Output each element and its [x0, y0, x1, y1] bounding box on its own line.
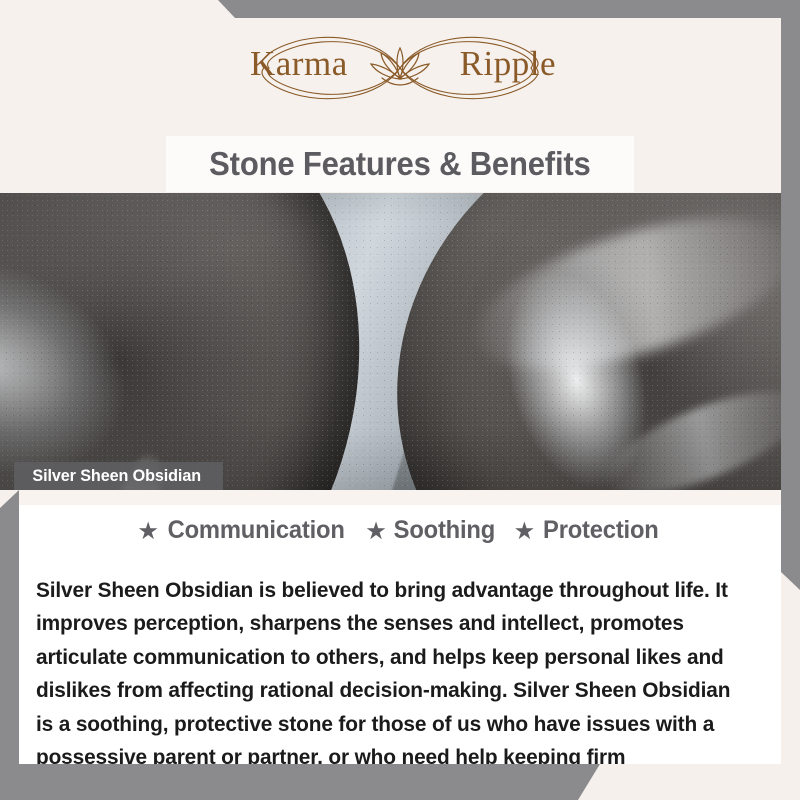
- page-title-band: Stone Features & Benefits: [166, 136, 634, 192]
- keyword-item-protection: ★ Protection: [515, 516, 661, 545]
- frame-band-right: [781, 18, 800, 590]
- content-panel: ★ Communication ★ Soothing ★ Protection …: [19, 490, 781, 764]
- frame-band-left: [0, 490, 19, 782]
- keyword-item-communication: ★ Communication: [139, 516, 350, 545]
- page-title: Stone Features & Benefits: [209, 145, 590, 183]
- keyword-label: Protection: [543, 516, 659, 545]
- stone-photo: Silver Sheen Obsidian: [0, 193, 800, 490]
- brand-name-right: Ripple: [460, 46, 556, 81]
- keyword-label: Communication: [168, 516, 345, 545]
- stone-name-caption: Silver Sheen Obsidian: [14, 462, 223, 490]
- star-icon: ★: [367, 521, 386, 542]
- header-band: Karma Ripple Stone Features & Benefits: [0, 0, 800, 193]
- content-top-tint: [19, 490, 781, 505]
- star-icon: ★: [515, 521, 534, 542]
- frame-band-bottom: [0, 764, 600, 800]
- keyword-list: ★ Communication ★ Soothing ★ Protection: [19, 516, 781, 545]
- stone-name-label: Silver Sheen Obsidian: [32, 466, 201, 486]
- keyword-label: Soothing: [394, 516, 495, 545]
- brand-logo: Karma Ripple: [0, 22, 800, 114]
- lotus-icon: [371, 48, 429, 85]
- brand-logo-artwork: Karma Ripple: [230, 22, 570, 114]
- infographic-canvas: Karma Ripple Stone Features & Benefits S…: [0, 0, 800, 800]
- star-icon: ★: [139, 521, 158, 542]
- keyword-item-soothing: ★ Soothing: [367, 516, 498, 545]
- brand-name-left: Karma: [250, 46, 348, 81]
- frame-band-top: [218, 0, 800, 18]
- photo-vignette: [0, 193, 800, 490]
